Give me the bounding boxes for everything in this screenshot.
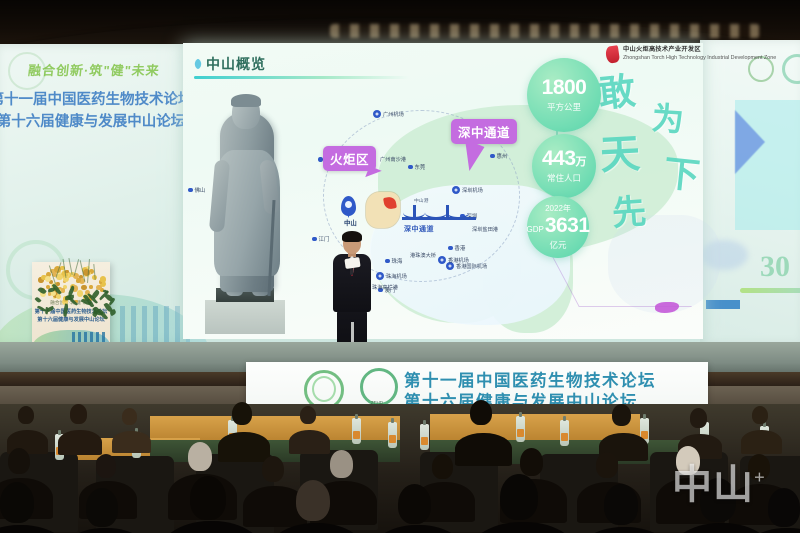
stat-pop-label: 常住人口 xyxy=(547,172,581,184)
map-bridge-icon xyxy=(402,205,476,223)
audience-head xyxy=(470,400,492,425)
audience-head xyxy=(86,488,118,527)
flower xyxy=(89,285,93,289)
flower-stem xyxy=(93,264,95,280)
audience-head xyxy=(432,454,453,479)
stat-bubble-gdp: 2022年 GDP 3631 亿元 xyxy=(527,196,589,258)
stat-bubble-population: 443万 常住人口 xyxy=(532,134,596,198)
leaf xyxy=(62,303,69,317)
zone-logo-name: 中山火炬高技术产业开发区 xyxy=(623,46,701,53)
slide-title-bullet-icon xyxy=(192,58,203,69)
map-port-nansha: 广州南沙港 xyxy=(378,156,406,163)
city-dot-icon xyxy=(448,246,453,251)
map-airport-zhuhai: 珠海机场 xyxy=(376,272,407,280)
stat-gdp-value: 3631 xyxy=(545,215,590,236)
slide-title: 中山概览 xyxy=(206,54,266,74)
audience-shoulders xyxy=(455,433,512,466)
leaf xyxy=(109,309,117,316)
audience-head xyxy=(96,454,116,478)
flower xyxy=(56,294,61,299)
screenshot-root: 融合创新·筑"健"未来 第十一届中国医药生物技术论坛 第十六届健康与发展中山论坛… xyxy=(0,0,800,533)
airport-icon xyxy=(438,256,446,264)
audience-shoulders xyxy=(218,432,270,462)
left-wall-forum-line2: 第十六届健康与发展中山论坛 xyxy=(0,110,196,131)
right-wall-triangle-icon xyxy=(735,110,765,174)
left-wall-slogan: 融合创新·筑"健"未来 xyxy=(0,60,195,79)
map-city-huizhou: 惠州 xyxy=(490,152,507,160)
map-port-gaolan: 珠海高栏港 xyxy=(370,284,398,291)
audience-shoulders xyxy=(58,430,102,456)
airport-icon xyxy=(376,272,384,280)
right-wall-anniversary: 30 xyxy=(760,250,790,284)
flower xyxy=(76,278,81,283)
stat-gdp-label: 亿元 xyxy=(549,239,566,251)
leaf xyxy=(45,307,49,315)
zone-logo-subtitle: Zhongshan Torch High Technology Industri… xyxy=(623,55,776,61)
map-city-zhongshan: 中山 xyxy=(341,218,357,227)
audience-head xyxy=(596,452,618,478)
city-dot-icon xyxy=(188,188,193,193)
audience-head xyxy=(122,408,137,425)
audience-head xyxy=(768,488,800,527)
audience-shoulders xyxy=(289,430,331,454)
statue-hair xyxy=(231,94,261,107)
map-airport-hongkong: 香港机场 xyxy=(438,256,469,264)
stat-gdp-prefix: GDP xyxy=(526,225,543,234)
map-city-foshan: 佛山 xyxy=(188,186,205,194)
audience-head xyxy=(232,402,252,425)
audience-head xyxy=(188,442,212,471)
stat-bubble-area: 1800 平方公里 xyxy=(527,58,601,132)
audience-head xyxy=(296,480,330,521)
ceiling-lights xyxy=(330,24,760,38)
watermark: 中山+ xyxy=(672,452,766,510)
map-port-label: 中山港 xyxy=(414,197,428,204)
right-wall-blue-tag xyxy=(706,300,740,309)
stat-area-value: 1800 xyxy=(542,77,587,98)
map-bridge-label: 深中通道 xyxy=(404,224,434,234)
callout-torch-zone: 火炬区 xyxy=(323,146,376,171)
audience-head xyxy=(262,456,284,482)
audience-head xyxy=(190,476,226,520)
flower xyxy=(81,285,86,290)
city-dot-icon xyxy=(318,157,323,162)
flower-arrangement xyxy=(26,256,116,316)
audience-head xyxy=(0,482,34,523)
podium-forum-line2: 第十六届健康与发展中山论坛 xyxy=(34,316,108,323)
map-city-zhuhai: 珠海 xyxy=(385,257,402,265)
right-wall-anniversary-bar xyxy=(740,288,800,293)
stat-pop-unit: 万 xyxy=(576,156,587,168)
calligraphy-char-3: 天 xyxy=(599,121,642,181)
audience-head xyxy=(612,404,631,426)
left-wall-forum-line1: 第十一届中国医药生物技术论坛 xyxy=(0,88,196,109)
stat-pop-value: 443 xyxy=(542,147,576,170)
audience-head xyxy=(330,450,353,478)
city-dot-icon xyxy=(490,154,495,159)
calligraphy-char-2: 为 xyxy=(650,93,685,141)
slide-title-underline xyxy=(194,76,409,79)
audience-head xyxy=(690,408,707,428)
city-dot-icon xyxy=(408,165,413,170)
water-bottle xyxy=(560,420,569,446)
audience-shoulders xyxy=(112,431,151,454)
airport-icon xyxy=(452,186,460,194)
speaker-notecard xyxy=(344,257,360,269)
audience-head xyxy=(8,448,30,474)
flower xyxy=(100,277,104,281)
map-pin-zhongshan-icon xyxy=(341,196,356,216)
city-dot-icon xyxy=(312,237,317,242)
map-airport-shenzhen: 深圳机场 xyxy=(452,186,483,194)
map-airport-guangzhou: 广州机场 xyxy=(373,110,404,118)
audience-head xyxy=(604,484,638,525)
calligraphy-char-4: 下 xyxy=(661,144,702,199)
water-bottle xyxy=(388,422,397,448)
map-city-jiangmen: 江门 xyxy=(312,235,329,243)
audience-head xyxy=(752,406,768,424)
leaf xyxy=(35,296,42,303)
water-bottle xyxy=(352,418,361,444)
audience-head xyxy=(500,474,538,520)
calligraphy-char-5: 先 xyxy=(610,184,647,235)
map-port-yantian: 深圳盐田港 xyxy=(470,226,498,233)
calligraphy-char-1: 敢 xyxy=(595,60,637,118)
map-city-dongguan: 东莞 xyxy=(408,163,425,171)
airport-icon xyxy=(373,110,381,118)
speaker-hair xyxy=(342,231,362,242)
audience-head xyxy=(18,406,34,424)
water-bottle xyxy=(516,416,525,442)
audience-head xyxy=(520,448,543,476)
audience-shoulders xyxy=(741,430,783,454)
map-bridge-hzmb: 港珠澳大桥 xyxy=(408,252,436,259)
stat-area-label: 平方公里 xyxy=(547,101,581,113)
map-city-hongkong: 香港 xyxy=(448,244,465,252)
audience-head xyxy=(300,406,316,424)
audience-head xyxy=(398,484,431,524)
stat-gdp-year: 2022年 xyxy=(545,203,571,214)
callout-shenzhen-zhongshan-link: 深中通道 xyxy=(451,119,517,144)
audience-head xyxy=(70,404,87,424)
water-bottle xyxy=(420,424,429,450)
city-dot-icon xyxy=(385,259,390,264)
statue-base xyxy=(205,300,285,334)
